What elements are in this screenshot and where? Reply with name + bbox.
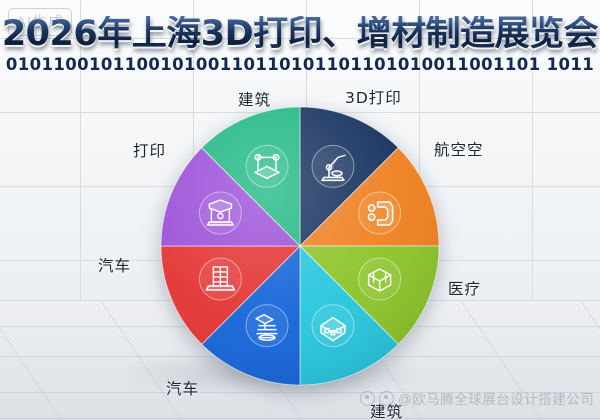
pie-slice-label: 3D打印 bbox=[345, 86, 402, 108]
page-title: 2026年上海3D打印、增材制造展览会 bbox=[0, 16, 600, 53]
binary-strip: 0101100101100101001101101011011010100110… bbox=[0, 55, 600, 74]
eye-icon bbox=[379, 391, 394, 406]
robot-arm-icon bbox=[312, 145, 354, 187]
pie-slice-label: 医疗 bbox=[448, 277, 481, 299]
company-watermark: @欧马腾全球展台设计搭建公司 bbox=[360, 388, 594, 408]
floor-grid-line bbox=[0, 300, 62, 420]
nozzle-extruder-icon bbox=[246, 305, 288, 347]
pie-slice-label: 建筑 bbox=[238, 88, 271, 110]
printer-bed-icon bbox=[246, 145, 288, 187]
company-watermark-label: @欧马腾全球展台设计搭建公司 bbox=[398, 388, 594, 408]
pie-slice-label: 打印 bbox=[133, 139, 166, 161]
eye-icon bbox=[360, 391, 375, 406]
pie-slice-label: 汽车 bbox=[166, 377, 199, 399]
title-block: 2026年上海3D打印、增材制造展览会 01011001011001010011… bbox=[0, 16, 600, 74]
wireframe-cube-icon bbox=[359, 258, 401, 300]
building-tower-icon bbox=[199, 258, 241, 300]
pie-chart bbox=[160, 106, 440, 386]
pie-slice-label: 航空空 bbox=[434, 138, 484, 160]
pie-chart-svg bbox=[160, 106, 440, 386]
3d-logo-icon bbox=[359, 192, 401, 234]
3d-printer-box-icon bbox=[312, 305, 354, 347]
printer-cabinet-icon bbox=[199, 192, 241, 234]
pie-slice-label: 汽车 bbox=[98, 254, 131, 276]
poster-canvas: AI生成 2026年上海3D打印、增材制造展览会 010110010110010… bbox=[0, 0, 600, 420]
